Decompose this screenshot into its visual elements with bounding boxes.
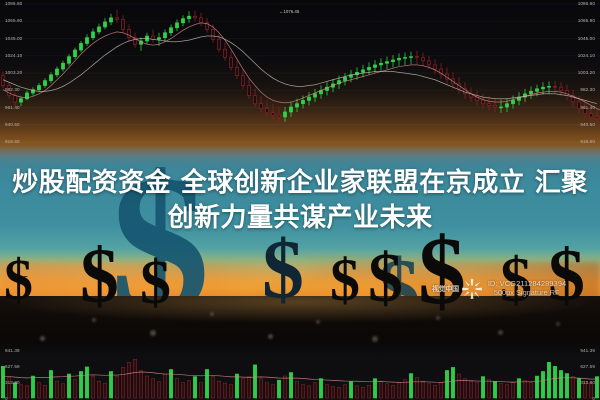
price-y-tick-label: 1003.20	[578, 70, 595, 75]
bokeh-dot	[316, 320, 320, 324]
volume-y-tick-label: 313.80	[580, 380, 595, 385]
price-annotation-label: ←1076.45	[279, 9, 299, 14]
price-y-tick-label: 1003.20	[5, 70, 22, 75]
price-y-tick-label: 919.60	[5, 139, 20, 144]
price-y-tick-label: 1065.90	[578, 18, 595, 23]
volume-y-tick-label: 941.39	[5, 348, 20, 353]
headline-line-1: 炒股配资资金 全球创新企业家联盟在京成立 汇聚	[12, 168, 588, 198]
dollar-sign-silhouette: $	[330, 256, 360, 305]
price-y-tick-label: 1024.10	[5, 53, 22, 58]
bokeh-dot	[92, 318, 96, 322]
bokeh-dot	[268, 334, 273, 339]
price-y-tick-label: 982.30	[5, 87, 20, 92]
price-y-tick-label: 940.50	[580, 122, 595, 127]
watermark: 视觉中国 ID: VCG211284289394 500px Signature…	[432, 278, 566, 300]
vcg-logo: 视觉中国	[432, 278, 483, 300]
volume-bar-chart: 941.39627.59313.800 941.39627.59313.800	[0, 344, 600, 400]
price-y-tick-label: 1065.90	[5, 18, 22, 23]
volume-y-tick-label: 0	[5, 396, 8, 400]
bokeh-dot	[556, 322, 560, 326]
volume-y-tick-label: 627.59	[580, 364, 595, 369]
price-y-tick-label: 919.60	[580, 139, 595, 144]
bokeh-dot	[498, 330, 503, 335]
dollar-sign-silhouette: $	[80, 244, 119, 308]
price-y-tick-label: 1086.80	[578, 1, 595, 6]
bokeh-dot	[372, 336, 378, 342]
price-y-tick-label: 1086.80	[5, 1, 22, 6]
price-y-tick-label: 1024.10	[578, 53, 595, 58]
dollar-sign-silhouette: $	[262, 236, 304, 305]
volume-y-tick-label: 0	[592, 396, 595, 400]
price-y-tick-label: 1045.00	[578, 36, 595, 41]
price-y-tick-label: 961.40	[580, 105, 595, 110]
dollar-sign-silhouette: $	[140, 258, 171, 309]
bokeh-dot	[40, 336, 45, 341]
price-y-tick-label: 961.40	[5, 105, 20, 110]
vcg-starburst-icon	[461, 278, 483, 300]
price-candlestick-chart: 1086.801065.901045.001024.101003.20982.3…	[0, 0, 600, 148]
bokeh-dot	[436, 316, 440, 320]
volume-y-tick-label: 941.39	[580, 348, 595, 353]
price-y-tick-label: 940.50	[5, 122, 20, 127]
dollar-sign-silhouette: $	[368, 250, 403, 307]
headline-text: 炒股配资资金 全球创新企业家联盟在京成立 汇聚 创新力量共谋产业未来	[0, 166, 600, 236]
watermark-text: ID: VCG211284289394 500px Signature RF	[488, 280, 566, 297]
bokeh-dot	[210, 312, 214, 316]
dollar-sign-silhouette: $	[4, 256, 33, 304]
volume-chart-plot	[0, 344, 600, 400]
watermark-license: 500px Signature RF	[488, 289, 566, 298]
vcg-brand-label: 视觉中国	[432, 284, 459, 294]
headline-line-2: 创新力量共谋产业未来	[0, 201, 600, 236]
price-y-tick-label: 1045.00	[5, 36, 22, 41]
news-banner-image: $ $ $ $ $ $ $ $ $ $ $ 1086.801065.901045…	[0, 0, 600, 400]
volume-y-tick-label: 313.80	[5, 380, 20, 385]
volume-y-tick-label: 627.59	[5, 364, 20, 369]
bokeh-dot	[150, 330, 156, 336]
price-chart-plot	[0, 0, 600, 148]
price-y-tick-label: 982.30	[580, 87, 595, 92]
